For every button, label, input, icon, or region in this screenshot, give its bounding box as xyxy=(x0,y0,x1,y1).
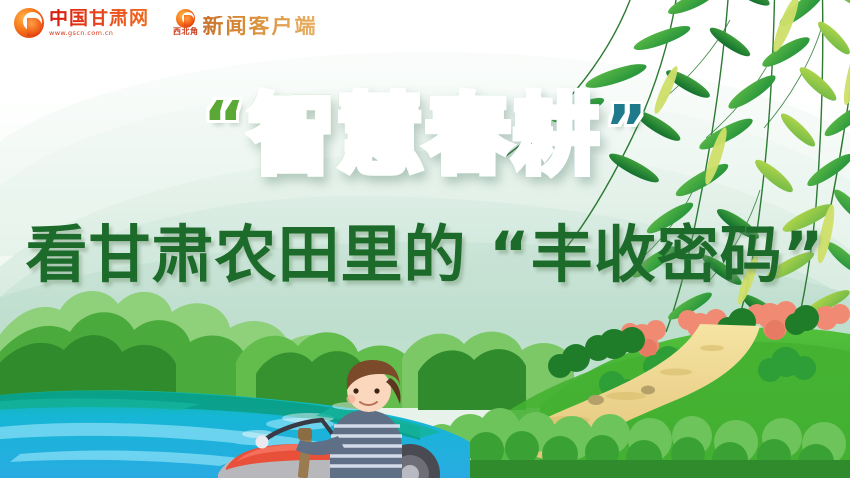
brand-gansu-net[interactable]: 中国甘肃网 www.gscn.com.cn xyxy=(14,8,149,38)
subtitle: 看甘肃农田里的 “丰收密码” xyxy=(0,216,850,294)
brand-news-client[interactable]: 西北角 新闻客户端 xyxy=(173,9,318,37)
header-brands: 中国甘肃网 www.gscn.com.cn 西北角 新闻客户端 xyxy=(14,8,318,38)
landscape-illustration xyxy=(0,278,850,478)
page-title: 智慧春耕 xyxy=(249,93,601,179)
tree-canopy-mid xyxy=(236,332,574,410)
xibeijiao-spiral-logo-icon xyxy=(176,9,195,28)
headline: “ 智慧春耕 ” xyxy=(0,78,850,193)
brand-gansu-url: www.gscn.com.cn xyxy=(49,30,149,37)
quote-open-mark: “ xyxy=(203,94,245,158)
farmer-eye xyxy=(353,388,358,393)
brand-seal-text: 西北角 xyxy=(173,28,199,36)
brand-gansu-name: 中国甘肃网 xyxy=(49,9,149,28)
gansu-spiral-logo-icon xyxy=(14,8,44,38)
subtitle-text: 看甘肃农田里的 “丰收密码” xyxy=(25,224,824,286)
brand-news-client-name: 新闻客户端 xyxy=(203,16,318,37)
farmer-cheek xyxy=(347,395,356,404)
quote-close-mark: ” xyxy=(605,98,647,162)
poster-canvas: 中国甘肃网 www.gscn.com.cn 西北角 新闻客户端 “ 智慧春耕 ”… xyxy=(0,0,850,478)
